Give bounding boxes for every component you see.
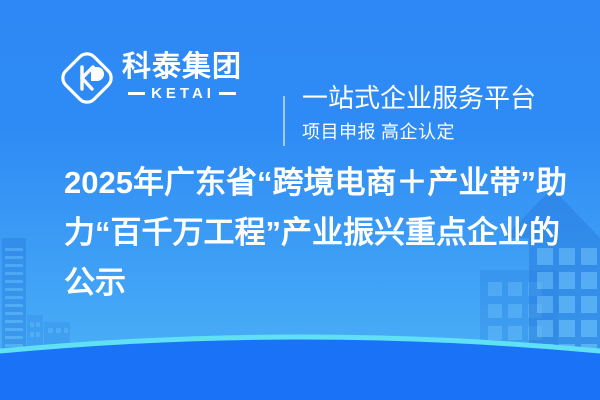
page-title: 2025年广东省“跨境电商＋产业带”助力“百千万工程”产业振兴重点企业的公示	[64, 158, 584, 308]
company-logo[interactable]: 科泰集团 KETAI	[58, 49, 242, 107]
logo-chinese-name: 科泰集团	[122, 53, 242, 83]
tagline-sub: 项目申报 高企认定	[302, 118, 536, 144]
announcement-banner: 科泰集团 KETAI 一站式企业服务平台 项目申报 高企认定 2025年广东省“…	[0, 0, 600, 400]
banner-header: 科泰集团 KETAI 一站式企业服务平台 项目申报 高企认定	[0, 40, 600, 115]
left-tower-building	[2, 238, 26, 363]
bottom-curve-band	[0, 337, 600, 400]
header-divider	[283, 96, 285, 146]
logo-english-row: KETAI	[122, 85, 242, 102]
logo-wordmark: 科泰集团 KETAI	[122, 53, 242, 103]
logo-english-name: KETAI	[151, 85, 215, 102]
tagline-main: 一站式企业服务平台	[302, 84, 536, 114]
ketai-diamond-kp-monogram-icon	[58, 49, 116, 107]
tagline-block: 一站式企业服务平台 项目申报 高企认定	[302, 84, 536, 144]
left-low-buildings	[27, 315, 70, 363]
logo-dash-left	[128, 92, 145, 95]
logo-dash-right	[219, 92, 236, 95]
cyan-arc-highlight	[0, 337, 600, 352]
